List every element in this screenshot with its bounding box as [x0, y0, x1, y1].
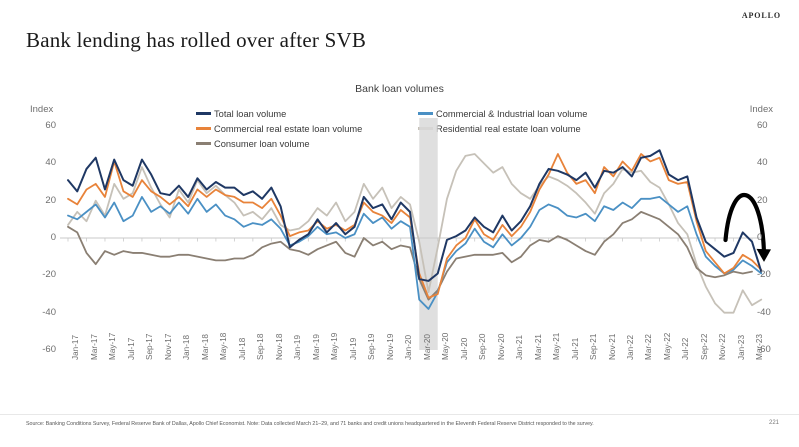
slide-canvas: APOLLO Bank lending has rolled over afte…: [0, 0, 799, 447]
x-tick-label: Nov-21: [608, 334, 617, 360]
page-title: Bank lending has rolled over after SVB: [26, 28, 366, 53]
x-tick-label: Nov-19: [386, 334, 395, 360]
x-tick-label: Jan-23: [737, 335, 746, 360]
legend-swatch-icon: [418, 112, 433, 115]
y-tick-label: 40: [30, 157, 56, 168]
x-tick-label: Jul-21: [571, 338, 580, 360]
chart-title: Bank loan volumes: [0, 83, 799, 95]
x-tick-label: Jul-20: [460, 338, 469, 360]
x-tick-label: May-20: [441, 333, 450, 360]
x-tick-label: Jul-22: [681, 338, 690, 360]
shaded-region: [419, 118, 437, 350]
y-tick-label: 0: [30, 232, 56, 243]
x-tick-label: Jul-17: [127, 338, 136, 360]
y-axis-unit-right: Index: [750, 104, 773, 115]
legend-item[interactable]: Total loan volume: [196, 109, 418, 119]
source-note: Source: Banking Conditions Survey, Feder…: [26, 421, 594, 427]
x-tick-label: Mar-21: [534, 334, 543, 360]
x-tick-label: Mar-18: [201, 334, 210, 360]
series-line: [68, 154, 761, 313]
y-tick-label: -20: [757, 269, 783, 280]
x-tick-label: May-18: [219, 333, 228, 360]
y-tick-label: 40: [757, 157, 783, 168]
y-tick-label: -40: [757, 307, 783, 318]
y-tick-label: -60: [30, 344, 56, 355]
page-number: 221: [769, 420, 779, 426]
x-tick-label: Jan-17: [71, 335, 80, 360]
x-tick-label: Sep-22: [700, 334, 709, 360]
chart-plot-area: [0, 118, 799, 358]
x-tick-label: Jan-18: [182, 335, 191, 360]
x-tick-label: Nov-22: [718, 334, 727, 360]
series-line: [68, 212, 752, 300]
x-tick-label: May-19: [330, 333, 339, 360]
x-tick-label: Jul-18: [238, 338, 247, 360]
x-tick-label: Mar-19: [312, 334, 321, 360]
y-tick-label: 60: [757, 120, 783, 131]
series-line: [68, 197, 761, 309]
chart-svg: [0, 118, 799, 358]
x-tick-label: May-17: [108, 333, 117, 360]
x-tick-label: Jul-19: [349, 338, 358, 360]
legend-swatch-icon: [196, 112, 211, 115]
x-tick-label: Mar-20: [423, 334, 432, 360]
y-tick-label: 0: [757, 232, 783, 243]
x-tick-label: Nov-18: [275, 334, 284, 360]
legend-label: Commercial & Industrial loan volume: [436, 109, 587, 119]
footer-divider: [0, 414, 799, 415]
x-tick-label: Sep-17: [145, 334, 154, 360]
y-tick-label: 60: [30, 120, 56, 131]
legend-label: Total loan volume: [214, 109, 286, 119]
y-tick-label: -40: [30, 307, 56, 318]
x-tick-label: Mar-17: [90, 334, 99, 360]
y-tick-label: -20: [30, 269, 56, 280]
y-axis-unit-left: Index: [30, 104, 53, 115]
x-tick-label: Jan-20: [404, 335, 413, 360]
x-tick-label: Sep-18: [256, 334, 265, 360]
x-tick-label: Nov-20: [497, 334, 506, 360]
x-tick-label: Sep-21: [589, 334, 598, 360]
x-tick-label: Mar-22: [644, 334, 653, 360]
x-tick-label: Jan-21: [515, 335, 524, 360]
legend-item[interactable]: Commercial & Industrial loan volume: [418, 109, 618, 119]
x-tick-label: May-22: [663, 333, 672, 360]
y-tick-label: 20: [757, 195, 783, 206]
x-tick-label: Sep-19: [367, 334, 376, 360]
x-tick-label: Jan-19: [293, 335, 302, 360]
x-axis-ticks: Jan-17Mar-17May-17Jul-17Sep-17Nov-17Jan-…: [0, 358, 799, 406]
apollo-logo: APOLLO: [742, 11, 781, 20]
x-tick-label: Mar-23: [755, 334, 764, 360]
x-tick-label: Sep-20: [478, 334, 487, 360]
y-tick-label: 20: [30, 195, 56, 206]
x-tick-label: Jan-22: [626, 335, 635, 360]
x-tick-label: May-21: [552, 333, 561, 360]
x-tick-label: Nov-17: [164, 334, 173, 360]
